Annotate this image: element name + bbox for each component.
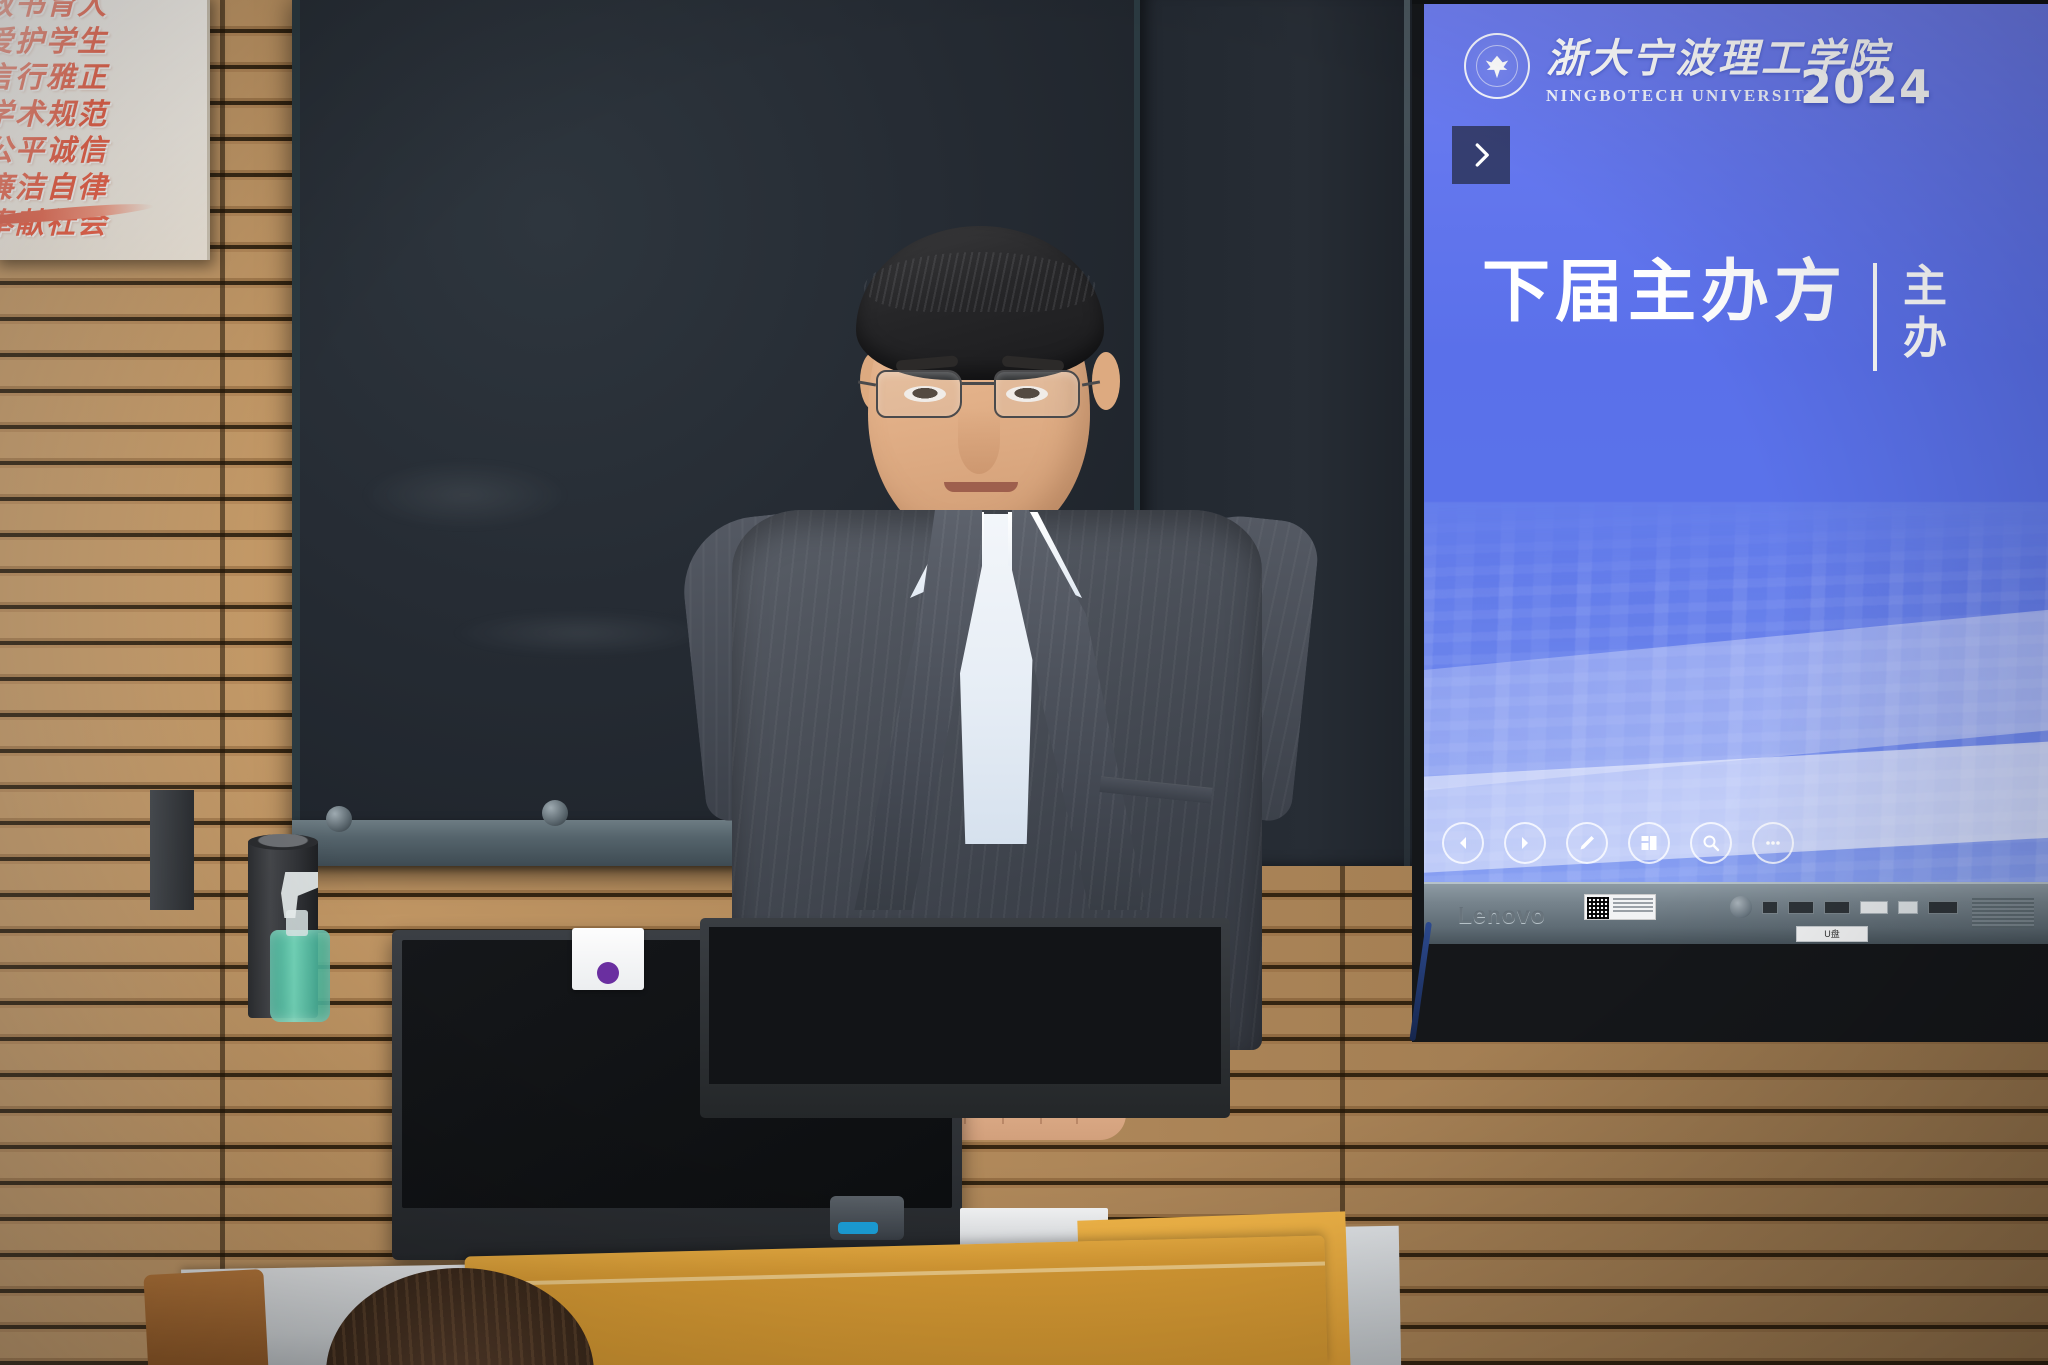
poster-slogan-line: 言行雅正 bbox=[0, 63, 108, 93]
display-screen[interactable]: 浙大宁波理工学院 NINGBOTECH UNIVERSITY 2024 下届主办… bbox=[1424, 4, 2048, 882]
spec-text-lines bbox=[1611, 895, 1655, 919]
spray-bottle-body bbox=[270, 930, 330, 1022]
smart-display[interactable]: 浙大宁波理工学院 NINGBOTECH UNIVERSITY 2024 下届主办… bbox=[1412, 0, 2048, 1042]
slide-year: 2024 bbox=[1800, 60, 1932, 114]
slide-side-text: 主 办 bbox=[1903, 261, 1949, 365]
classroom-photo-scene: 教书育人 爱护学生 言行雅正 学术规范 公平诚信 廉洁自律 奉献社会 bbox=[0, 0, 2048, 1365]
more-options-icon[interactable] bbox=[1752, 822, 1794, 864]
usb-port[interactable] bbox=[1788, 901, 1814, 914]
tray-knob bbox=[326, 806, 352, 832]
ethernet-port[interactable] bbox=[1860, 901, 1888, 914]
poster-slogan-list: 教书育人 爱护学生 言行雅正 学术规范 公平诚信 廉洁自律 奉献社会 bbox=[0, 0, 108, 239]
tray-knob bbox=[542, 800, 568, 826]
monitor-stand bbox=[150, 790, 194, 910]
slide-headline-group: 下届主办方 主 办 bbox=[1482, 259, 1949, 371]
next-slide-icon[interactable] bbox=[1504, 822, 1546, 864]
chair-back bbox=[143, 1269, 268, 1365]
presenter bbox=[700, 210, 1300, 1040]
bin-rim bbox=[248, 834, 318, 850]
slide-side-text-line: 主 bbox=[1903, 261, 1949, 313]
wooden-podium bbox=[465, 1236, 1328, 1365]
lens-right bbox=[994, 370, 1080, 418]
secondary-monitor bbox=[700, 918, 1230, 1118]
poster-slogan-line: 公平诚信 bbox=[0, 136, 108, 166]
teacher-ethics-poster: 教书育人 爱护学生 言行雅正 学术规范 公平诚信 廉洁自律 奉献社会 bbox=[0, 0, 210, 260]
mouth bbox=[944, 482, 1018, 492]
speaker-grille-icon bbox=[1972, 898, 2034, 928]
usb-port-label: U盘 bbox=[1796, 926, 1868, 942]
display-bottom-bezel: Lenovo U盘 bbox=[1424, 882, 2048, 944]
blackboard-panel-edge bbox=[1404, 0, 1410, 866]
spray-bottle bbox=[264, 872, 330, 1022]
marker-box bbox=[572, 928, 644, 990]
wall-seam bbox=[220, 0, 225, 1365]
pen-icon[interactable] bbox=[1566, 822, 1608, 864]
university-crest-icon bbox=[1464, 33, 1530, 99]
crest-bird-glyph bbox=[1482, 52, 1512, 82]
screen-toolbar[interactable] bbox=[1442, 822, 1794, 864]
previous-slide-icon[interactable] bbox=[1442, 822, 1484, 864]
poster-slogan-line: 爱护学生 bbox=[0, 27, 108, 57]
lens-left bbox=[876, 370, 962, 418]
headline-divider bbox=[1873, 263, 1877, 371]
magnifier-icon[interactable] bbox=[1690, 822, 1732, 864]
device-spec-label bbox=[1584, 894, 1656, 920]
chevron-right-icon[interactable] bbox=[1452, 126, 1510, 184]
vga-connector bbox=[830, 1196, 904, 1240]
glasses-bridge bbox=[962, 382, 994, 385]
slide-headline: 下届主办方 bbox=[1482, 259, 1847, 327]
hair bbox=[856, 226, 1104, 380]
nose bbox=[958, 408, 1000, 474]
poster-slogan-line: 廉洁自律 bbox=[0, 173, 108, 203]
poster-slogan-line: 教书育人 bbox=[0, 0, 108, 20]
university-header: 浙大宁波理工学院 NINGBOTECH UNIVERSITY 2024 bbox=[1464, 26, 1890, 106]
slide-side-text-line: 办 bbox=[1903, 313, 1949, 365]
usb-port[interactable] bbox=[1824, 901, 1850, 914]
usb-b-port[interactable] bbox=[1898, 901, 1918, 914]
qr-code-icon bbox=[1587, 897, 1609, 919]
poster-slogan-line: 学术规范 bbox=[0, 100, 108, 130]
secondary-monitor-screen bbox=[709, 927, 1221, 1084]
hdmi-port[interactable] bbox=[1928, 901, 1958, 914]
display-cable bbox=[1409, 922, 1432, 1042]
display-brand-label: Lenovo bbox=[1458, 902, 1546, 929]
typec-port[interactable] bbox=[1762, 901, 1778, 914]
power-button-icon[interactable] bbox=[1730, 896, 1752, 918]
port-cluster[interactable] bbox=[1730, 896, 1958, 918]
chevron-right-glyph bbox=[1466, 140, 1496, 170]
layout-icon[interactable] bbox=[1628, 822, 1670, 864]
